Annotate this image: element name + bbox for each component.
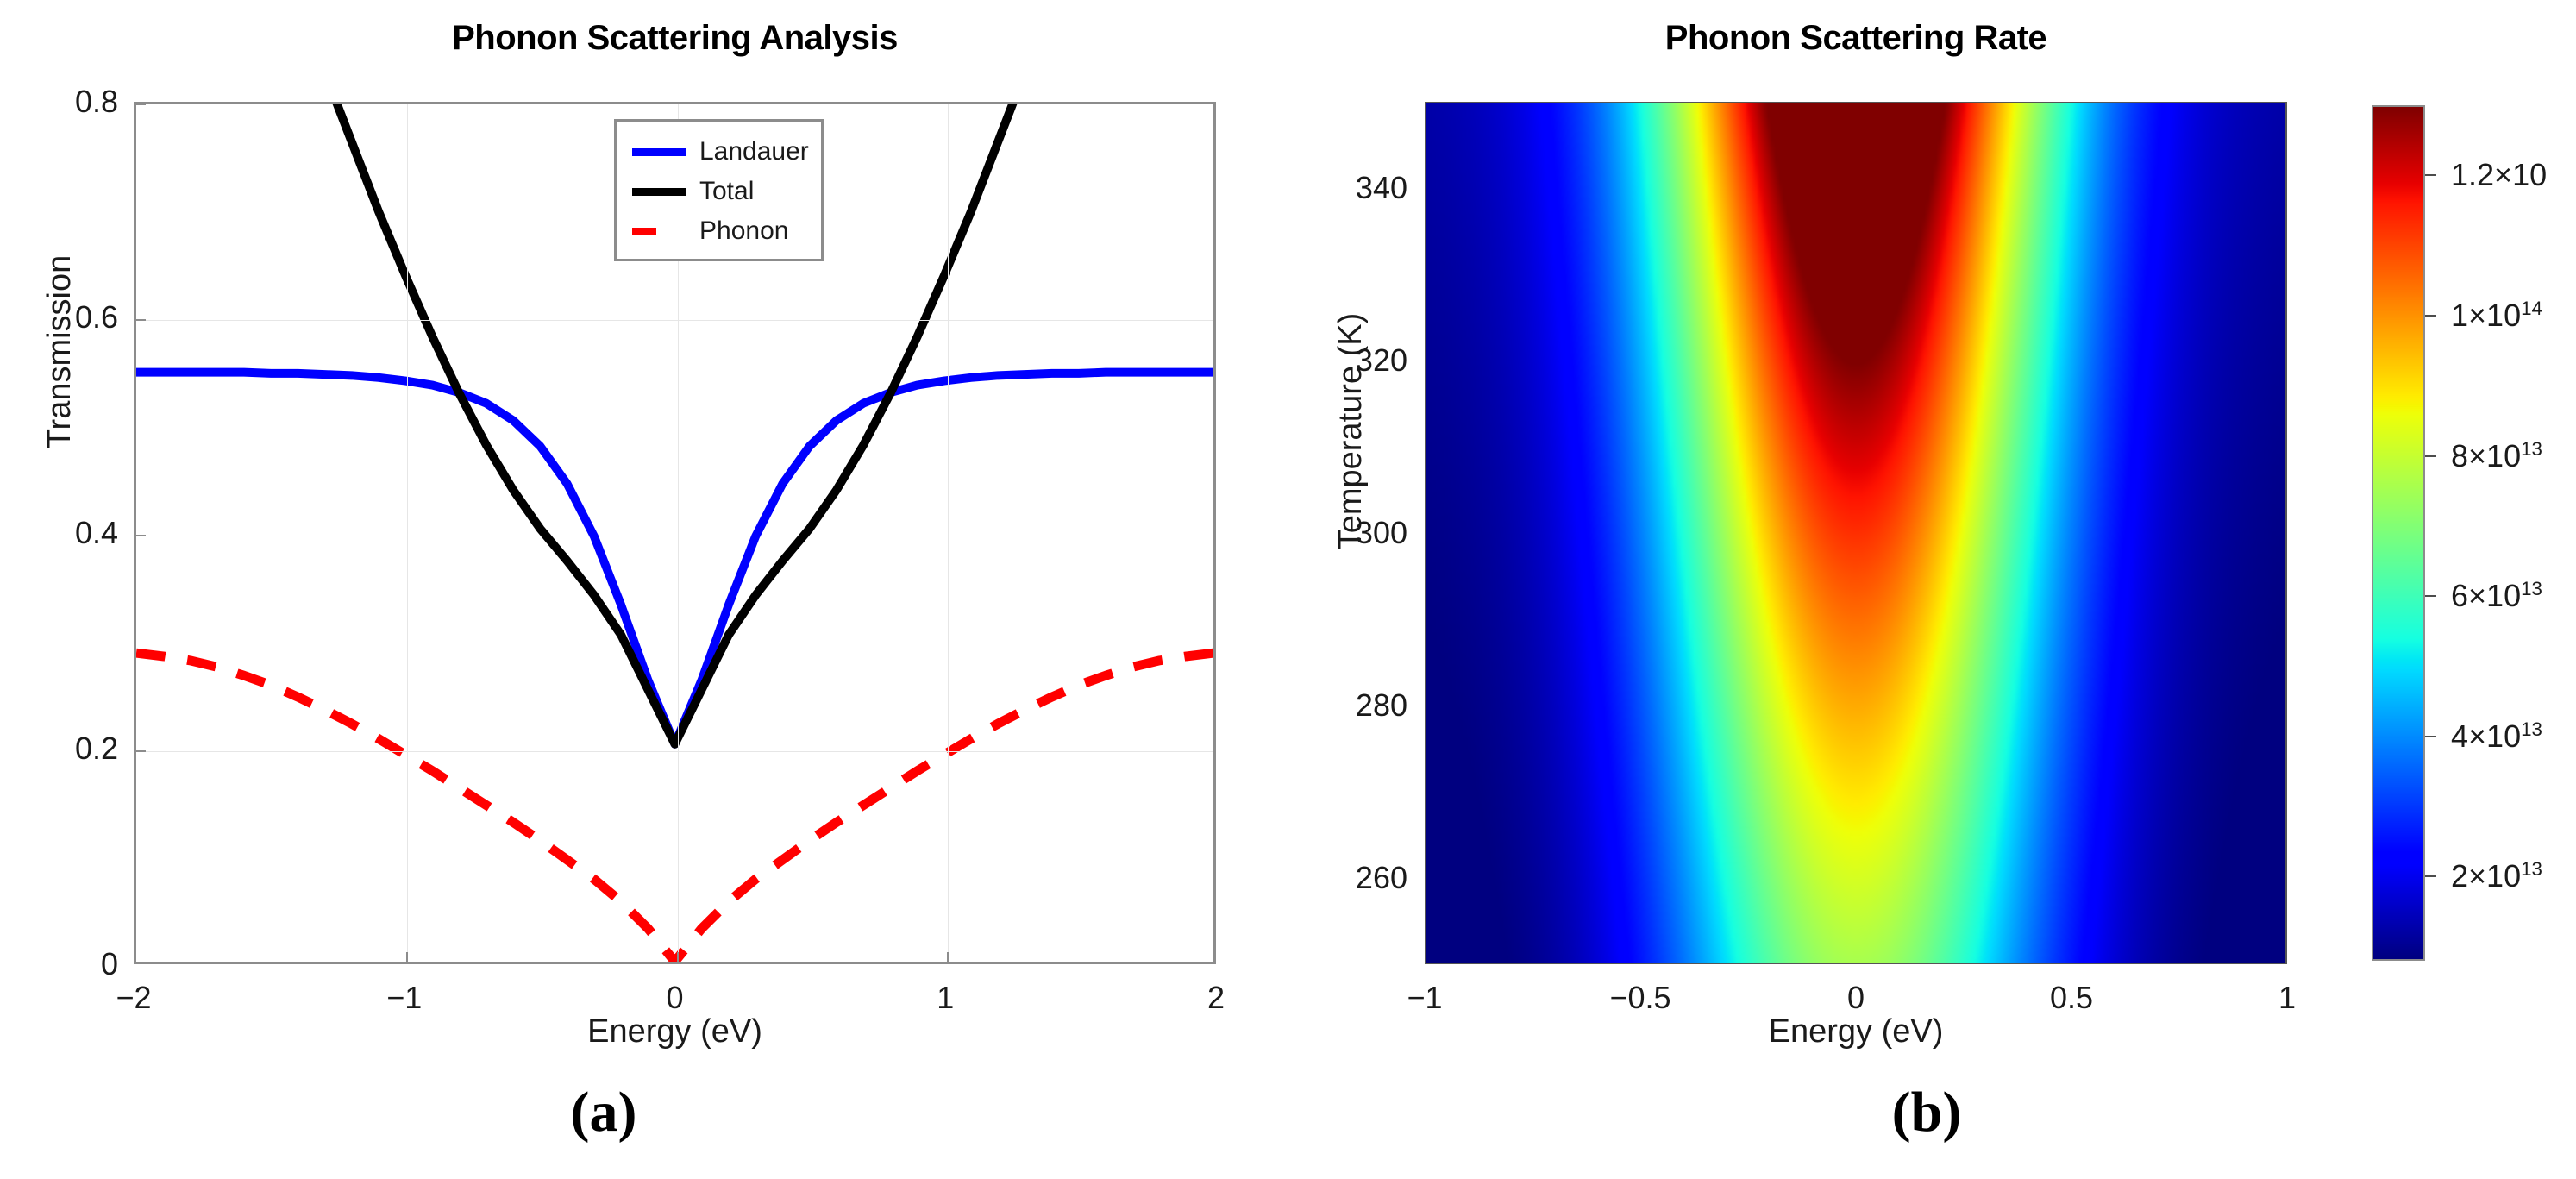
panel-b-scattering-rate: Phonon Scattering Rate 260280300320340−1…	[1250, 0, 2576, 1061]
curve-phonon	[136, 653, 1213, 962]
panel-a-title: Phonon Scattering Analysis	[134, 19, 1216, 58]
panel-b-ylabel: Temperature (K)	[1332, 224, 1369, 638]
panel-b-ytick-label: 260	[1287, 860, 1407, 896]
colorbar-tick-mark	[2425, 736, 2436, 737]
tick-mark-y	[136, 103, 146, 105]
panel-b-xlabel: Energy (eV)	[1425, 1013, 2287, 1050]
panel-a-xlabel: Energy (eV)	[134, 1013, 1216, 1050]
tick-mark-x	[406, 952, 408, 962]
curve-landauer	[136, 373, 1213, 744]
panel-a-xtick-label: 0	[666, 980, 683, 1016]
panel-b-ytick-label: 340	[1287, 170, 1407, 206]
colorbar-tick-label: 1×1014	[2451, 298, 2542, 334]
colorbar-tick-label: 4×1013	[2451, 718, 2542, 755]
panel-b-ytick-label: 280	[1287, 687, 1407, 724]
colorbar-canvas	[2373, 107, 2423, 959]
colorbar-tick-label: 6×1013	[2451, 578, 2542, 614]
panel-b-xtick-label: 0.5	[2050, 980, 2093, 1016]
gridline-horizontal	[136, 751, 1213, 752]
colorbar-tick-label: 1.2×10	[2451, 157, 2547, 193]
legend-label-phonon: Phonon	[699, 216, 788, 246]
colorbar[interactable]	[2372, 105, 2425, 961]
tick-mark-x	[947, 952, 949, 962]
legend-label-total: Total	[699, 177, 754, 206]
tick-mark-x	[677, 952, 679, 962]
heatmap-canvas	[1426, 103, 2285, 963]
gridline-vertical	[948, 104, 949, 962]
colorbar-tick-mark	[2425, 455, 2436, 457]
gridline-vertical	[407, 104, 408, 962]
gridline-horizontal	[136, 320, 1213, 321]
panel-a-ytick-label: 0.2	[13, 731, 118, 767]
gridline-horizontal	[136, 536, 1213, 536]
panel-a-transmission: Phonon Scattering Analysis 00.20.40.60.8…	[0, 0, 1250, 1061]
panel-b-xtick-label: −1	[1407, 980, 1442, 1016]
colorbar-tick-mark	[2425, 595, 2436, 597]
panel-a-xtick-label: −1	[386, 980, 422, 1016]
panel-b-heatmap	[1425, 102, 2287, 964]
tick-mark-y	[136, 535, 146, 536]
colorbar-tick-mark	[2425, 875, 2436, 877]
legend-item-total[interactable]: Total	[617, 172, 821, 211]
panel-b-title: Phonon Scattering Rate	[1425, 19, 2287, 58]
panel-b-xtick-label: 1	[2278, 980, 2296, 1016]
subcaption-b: (b)	[1892, 1080, 1962, 1145]
subcaption-a: (a)	[571, 1080, 637, 1145]
legend-item-phonon[interactable]: Phonon	[617, 211, 821, 251]
colorbar-tick-label: 2×1013	[2451, 858, 2542, 894]
panel-a-xtick-label: −2	[116, 980, 151, 1016]
panel-a-ylabel: Transmission	[41, 171, 78, 533]
tick-mark-y	[136, 750, 146, 752]
legend-item-landauer[interactable]: Landauer	[617, 132, 821, 172]
panel-a-xtick-label: 2	[1207, 980, 1225, 1016]
panel-a-legend[interactable]: Landauer Total Phonon	[614, 119, 824, 261]
panel-a-ytick-label: 0.8	[13, 84, 118, 120]
panel-b-xtick-label: 0	[1847, 980, 1865, 1016]
figure-root: Phonon Scattering Analysis 00.20.40.60.8…	[0, 0, 2576, 1179]
legend-label-landauer: Landauer	[699, 137, 809, 166]
legend-swatch-landauer	[632, 148, 686, 156]
panel-a-ytick-label: 0	[13, 946, 118, 982]
panel-a-xtick-label: 1	[937, 980, 954, 1016]
legend-swatch-total	[632, 188, 686, 196]
colorbar-tick-label: 8×1013	[2451, 438, 2542, 474]
legend-swatch-phonon	[632, 228, 686, 235]
colorbar-tick-mark	[2425, 174, 2436, 176]
panel-b-xtick-label: −0.5	[1609, 980, 1670, 1016]
colorbar-tick-mark	[2425, 315, 2436, 317]
tick-mark-y	[136, 319, 146, 321]
